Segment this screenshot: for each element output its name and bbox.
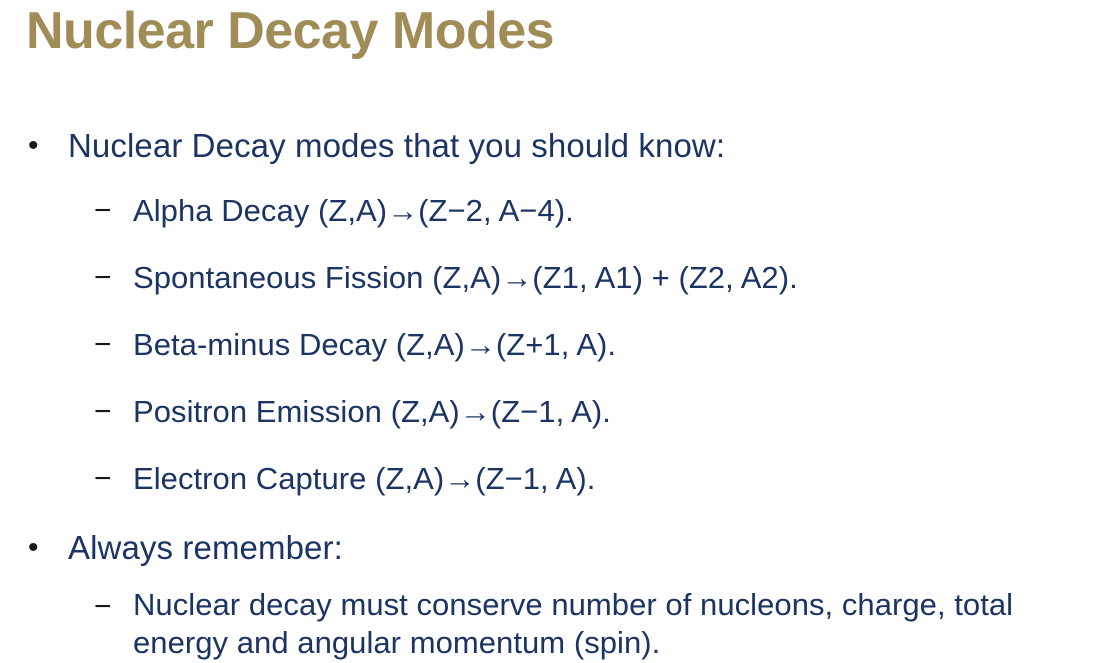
dash-icon: − (94, 324, 133, 365)
sub-bullet-beta-minus-decay: − Beta-minus Decay (Z,A)→(Z+1, A). (0, 324, 1118, 365)
spacer (0, 365, 1118, 391)
sub-bullet-text: Beta-minus Decay (Z,A)→(Z+1, A). (133, 324, 1095, 365)
sub-bullet-text: Alpha Decay (Z,A)→(Z−2, A−4). (133, 190, 1095, 231)
sub-bullet-electron-capture: − Electron Capture (Z,A)→(Z−1, A). (0, 458, 1118, 499)
dash-icon: − (94, 190, 133, 231)
sub-bullet-text: Spontaneous Fission (Z,A)→(Z1, A1) + (Z2… (133, 257, 1095, 298)
slide-body: • Nuclear Decay modes that you should kn… (0, 124, 1118, 662)
sub-bullet-text: Nuclear decay must conserve number of nu… (133, 586, 1095, 662)
sub-bullet-conservation-rule: − Nuclear decay must conserve number of … (0, 586, 1118, 662)
bullet-item-intro: • Nuclear Decay modes that you should kn… (0, 124, 1118, 168)
spacer (0, 570, 1118, 586)
bullet-dot-icon: • (28, 526, 68, 570)
slide: Nuclear Decay Modes • Nuclear Decay mode… (0, 0, 1118, 663)
spacer (0, 298, 1118, 324)
dash-icon: − (94, 391, 133, 432)
dash-icon: − (94, 586, 133, 627)
dash-icon: − (94, 458, 133, 499)
spacer (0, 231, 1118, 257)
bullet-remember-heading: Always remember: (68, 526, 1118, 570)
dash-icon: − (94, 257, 133, 298)
sub-bullet-text: Electron Capture (Z,A)→(Z−1, A). (133, 458, 1095, 499)
bullet-dot-icon: • (28, 124, 68, 168)
bullet-item-always-remember: • Always remember: (0, 526, 1118, 570)
sub-bullet-alpha-decay: − Alpha Decay (Z,A)→(Z−2, A−4). (0, 190, 1118, 231)
sub-bullet-text: Positron Emission (Z,A)→(Z−1, A). (133, 391, 1095, 432)
bullet-intro-text: Nuclear Decay modes that you should know… (68, 124, 1118, 168)
spacer (0, 432, 1118, 458)
spacer (0, 499, 1118, 526)
sub-bullet-positron-emission: − Positron Emission (Z,A)→(Z−1, A). (0, 391, 1118, 432)
page-title: Nuclear Decay Modes (26, 2, 554, 60)
spacer (0, 168, 1118, 190)
sub-bullet-spontaneous-fission: − Spontaneous Fission (Z,A)→(Z1, A1) + (… (0, 257, 1118, 298)
